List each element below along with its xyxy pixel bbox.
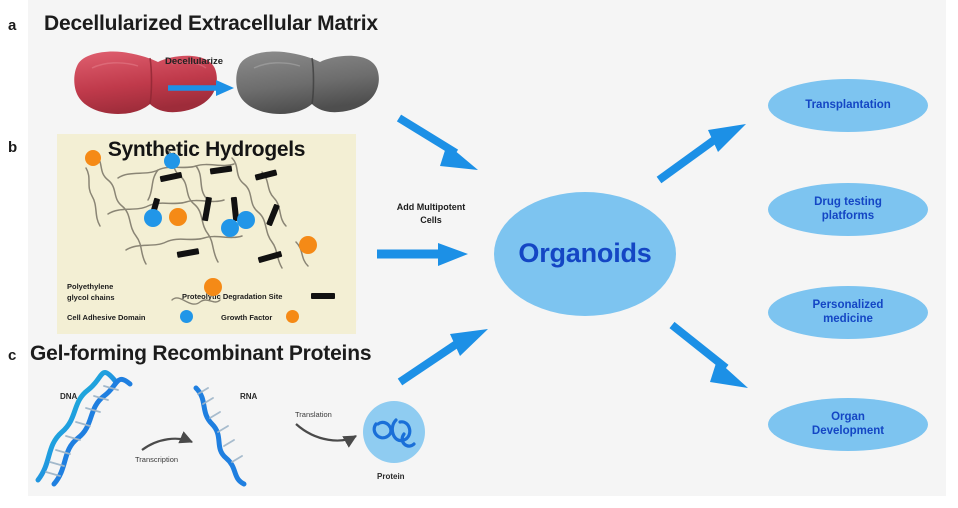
organoids-ellipse[interactable]: Organoids (494, 192, 676, 316)
output-label-organ-line1: Organ (831, 411, 865, 423)
panel-letter-b: b (8, 140, 17, 155)
panel-title-b: Synthetic Hydrogels (57, 138, 356, 162)
output-label-personalized-line2: medicine (823, 313, 873, 325)
add-cells-label-line2: Cells (372, 214, 490, 226)
dna-label: DNA (60, 392, 77, 401)
panel-title-a: Decellularized Extracellular Matrix (44, 13, 378, 35)
figure-root: a Decellularized Extracellular Matrix b … (0, 0, 958, 508)
legend-adhesive-label: Cell Adhesive Domain (67, 313, 146, 323)
rna-label: RNA (240, 392, 257, 401)
panel-letter-a: a (8, 18, 16, 33)
orange-dot-icon (286, 310, 299, 323)
output-label-drug-testing-line2: platforms (822, 210, 874, 222)
output-ellipse-transplantation[interactable]: Transplantation (768, 79, 928, 132)
legend-proteolytic-label: Proteolytic Degradation Site (182, 292, 282, 302)
output-label-drug-testing-line1: Drug testing (814, 196, 882, 208)
organoids-label: Organoids (518, 238, 651, 269)
panel-letter-c: c (8, 348, 16, 363)
legend-peg-line1: Polyethylene (67, 282, 113, 292)
translation-label: Translation (295, 410, 332, 419)
transcription-label: Transcription (135, 455, 178, 464)
black-bar-icon (311, 293, 335, 299)
output-ellipse-organ-development[interactable]: Organ Development (768, 398, 928, 451)
add-cells-label-line1: Add Multipotent (372, 201, 490, 213)
output-ellipse-personalized-medicine[interactable]: Personalized medicine (768, 286, 928, 339)
panel-title-c: Gel-forming Recombinant Proteins (30, 343, 371, 365)
protein-label: Protein (377, 472, 405, 481)
blue-dot-icon (180, 310, 193, 323)
output-label-personalized-line1: Personalized (813, 299, 884, 311)
output-ellipse-drug-testing[interactable]: Drug testing platforms (768, 183, 928, 236)
output-label-transplantation: Transplantation (805, 99, 891, 111)
legend-peg-line2: glycol chains (67, 293, 115, 303)
output-label-organ-line2: Development (812, 425, 884, 437)
hydrogel-panel: Synthetic Hydrogels Polyethylene glycol … (57, 134, 356, 334)
legend-growth-label: Growth Factor (221, 313, 272, 323)
